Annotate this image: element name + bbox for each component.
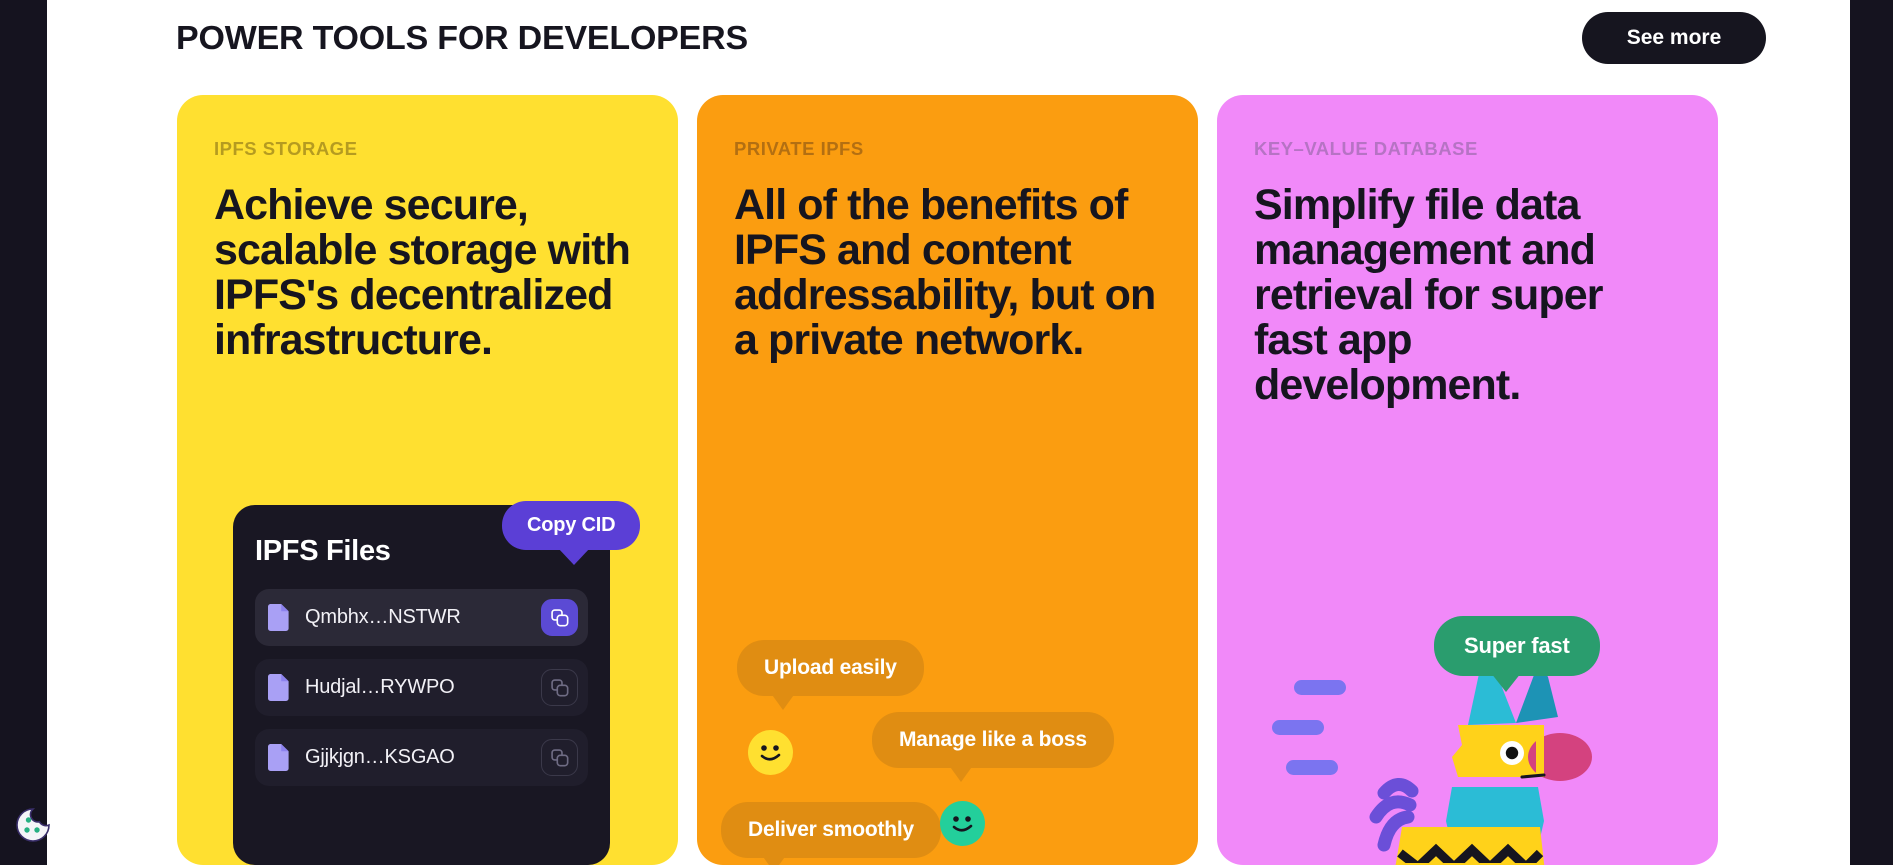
section-header: POWER TOOLS FOR DEVELOPERS See more — [176, 0, 1766, 76]
page-content: POWER TOOLS FOR DEVELOPERS See more IPFS… — [47, 0, 1850, 865]
green-smiley-icon — [940, 801, 985, 846]
chat-bubble-text: Manage like a boss — [899, 728, 1087, 751]
card-private-ipfs[interactable]: PRIVATE IPFS All of the benefits of IPFS… — [697, 95, 1198, 865]
file-document-icon — [268, 744, 289, 771]
file-document-icon — [268, 674, 289, 701]
chat-bubble-text: Deliver smoothly — [748, 818, 914, 841]
left-frame-strip — [0, 0, 47, 865]
chat-illustration: Upload easily Manage like a boss Deliver… — [697, 95, 1198, 865]
super-fast-badge-label: Super fast — [1434, 616, 1600, 676]
copy-cid-tooltip: Copy CID — [502, 501, 640, 550]
tooltip-tail — [558, 548, 590, 565]
cookie-icon — [14, 806, 52, 844]
chat-bubble: Upload easily — [737, 640, 924, 696]
chat-bubble-tail — [770, 692, 796, 710]
file-row[interactable]: Hudjal…RYWPO — [255, 659, 588, 716]
ipfs-files-panel: IPFS Files Qmbhx…NSTWR — [233, 505, 610, 865]
copy-cid-button[interactable] — [541, 599, 578, 636]
chat-bubble: Manage like a boss — [872, 712, 1114, 768]
feature-card-grid: IPFS STORAGE Achieve secure, scalable st… — [177, 95, 1770, 865]
yellow-smiley-icon — [748, 730, 793, 775]
super-fast-badge-tail — [1491, 673, 1521, 692]
pinata-llama-illustration: Super fast — [1217, 95, 1718, 865]
file-name: Qmbhx…NSTWR — [305, 606, 541, 629]
copy-cid-button[interactable] — [541, 739, 578, 776]
file-name: Gjjkjgn…KSGAO — [305, 746, 541, 769]
right-frame-strip — [1850, 0, 1893, 865]
file-document-icon — [268, 604, 289, 631]
copy-cid-tooltip-label: Copy CID — [502, 501, 640, 550]
card-eyebrow: IPFS STORAGE — [214, 138, 641, 160]
cookie-consent-button[interactable] — [14, 806, 52, 844]
file-name: Hudjal…RYWPO — [305, 676, 541, 699]
card-ipfs-storage[interactable]: IPFS STORAGE Achieve secure, scalable st… — [177, 95, 678, 865]
card-title: Achieve secure, scalable storage with IP… — [214, 183, 641, 363]
card-key-value-database[interactable]: KEY–VALUE DATABASE Simplify file data ma… — [1217, 95, 1718, 865]
copy-cid-button[interactable] — [541, 669, 578, 706]
page-title: POWER TOOLS FOR DEVELOPERS — [176, 19, 748, 57]
super-fast-badge: Super fast — [1434, 616, 1600, 676]
see-more-button[interactable]: See more — [1582, 12, 1766, 64]
file-row[interactable]: Qmbhx…NSTWR — [255, 589, 588, 646]
screenshot-viewport: POWER TOOLS FOR DEVELOPERS See more IPFS… — [0, 0, 1893, 865]
chat-bubble-tail — [948, 764, 974, 782]
chat-bubble-text: Upload easily — [764, 656, 897, 679]
file-row[interactable]: Gjjkjgn…KSGAO — [255, 729, 588, 786]
chat-bubble: Deliver smoothly — [721, 802, 941, 858]
chat-bubble-tail — [761, 854, 787, 865]
